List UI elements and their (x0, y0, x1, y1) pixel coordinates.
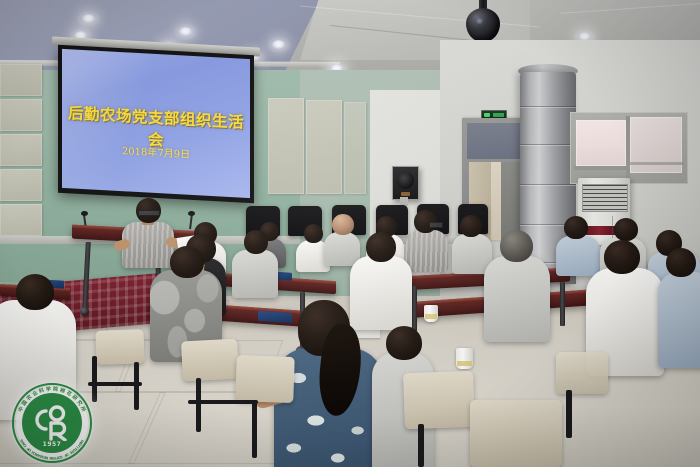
microphone-head (188, 211, 195, 216)
chair[interactable] (470, 400, 562, 467)
door-transom (467, 123, 521, 159)
microphone-head (81, 211, 88, 216)
chair-rail (88, 382, 142, 386)
chair[interactable] (181, 339, 239, 382)
chair-leg (196, 378, 201, 432)
projection-screen: 后勤农场党支部组织生活会 2018年7月9日 (62, 49, 250, 198)
wall-speaker (392, 166, 419, 200)
chair-leg (134, 362, 139, 410)
wall-panel (0, 99, 42, 131)
paper-cup (456, 348, 473, 369)
window-pane (576, 120, 626, 166)
chair[interactable] (556, 352, 608, 394)
cotton-research-institute-logo: 中国农业科学院棉花研究所 INSTITUTE OF COTTON RESEARC… (10, 381, 94, 465)
chair-leg (252, 400, 257, 458)
wall-panel (344, 102, 366, 194)
door-shadow (501, 162, 521, 240)
wall-panel (0, 169, 42, 201)
chair[interactable] (403, 371, 475, 429)
chair-rail (188, 400, 258, 404)
ac-grille (582, 184, 628, 212)
wall-panel (268, 98, 304, 194)
wall-panel (0, 64, 42, 96)
paper-cup (424, 305, 438, 322)
wall-panel (0, 204, 42, 236)
eyeglasses (138, 210, 160, 216)
wall-panel (0, 134, 42, 166)
downlight (272, 40, 285, 49)
logo-monogram (26, 401, 78, 441)
wall-panel (306, 100, 342, 194)
table-leg (560, 282, 565, 326)
window-mullion (630, 162, 684, 165)
downlight (82, 14, 95, 23)
chair[interactable] (235, 355, 295, 403)
window (570, 112, 688, 184)
downlight (179, 27, 192, 36)
meeting-room-photo: 后勤农场党支部组织生活会 2018年7月9日 (0, 0, 700, 467)
chair-leg (566, 390, 572, 438)
window-mullion (574, 166, 628, 170)
chair-leg (418, 424, 424, 467)
eyeglasses (429, 222, 443, 228)
table-leg (412, 286, 417, 334)
chair[interactable] (95, 329, 144, 365)
table-caster (80, 307, 89, 316)
logo-year: 1957 (10, 441, 94, 448)
